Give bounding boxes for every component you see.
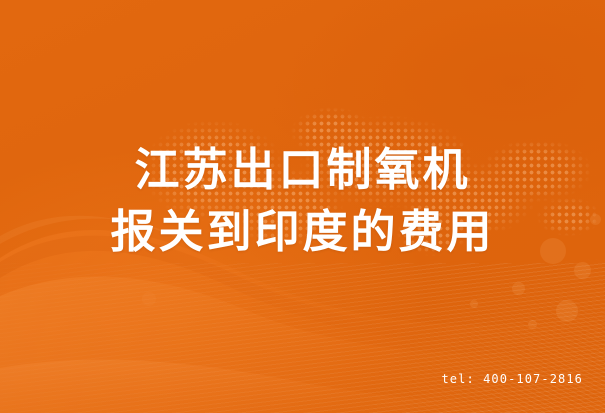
promo-banner: 江苏出口制氧机 报关到印度的费用 tel: 400-107-2816 xyxy=(0,0,605,413)
headline-line-2: 报关到印度的费用 xyxy=(0,201,605,263)
diagonal-line-pattern-corner xyxy=(305,243,605,413)
headline-line-1: 江苏出口制氧机 xyxy=(0,139,605,201)
headline-block: 江苏出口制氧机 报关到印度的费用 xyxy=(0,139,605,263)
contact-telephone: tel: 400-107-2816 xyxy=(441,372,583,386)
